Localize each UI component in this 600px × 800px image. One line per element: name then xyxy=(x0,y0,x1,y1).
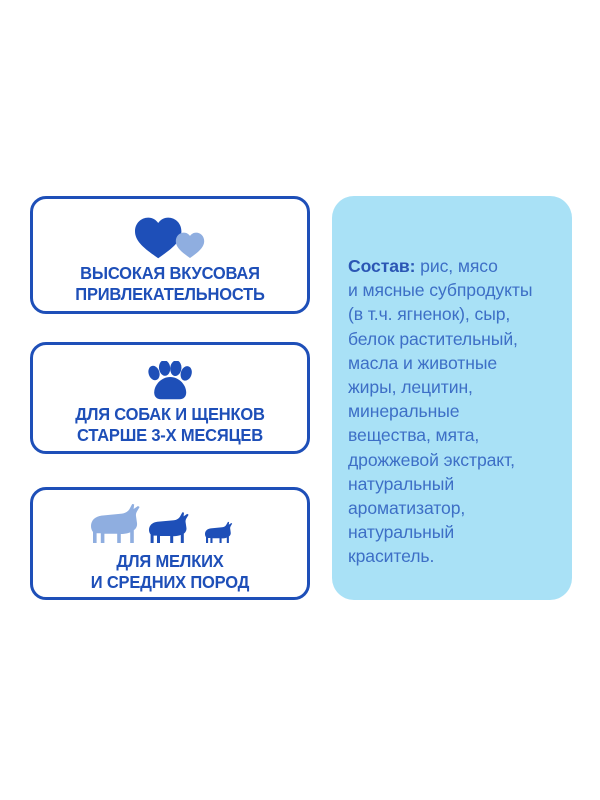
product-info-panel: ВЫСОКАЯ ВКУСОВАЯ ПРИВЛЕКАТЕЛЬНОСТЬ ДЛЯ С… xyxy=(0,0,600,800)
composition-body: рис, мясо и мясные субпродукты (в т.ч. я… xyxy=(348,256,532,566)
feature-label-small-and-medium-breeds: ДЛЯ МЕЛКИХ И СРЕДНИХ ПОРОД xyxy=(38,551,301,593)
feature-card-taste-appeal: ВЫСОКАЯ ВКУСОВАЯ ПРИВЛЕКАТЕЛЬНОСТЬ xyxy=(30,196,310,314)
feature-label-for-dogs-and-puppies: ДЛЯ СОБАК И ЩЕНКОВ СТАРШЕ 3-Х МЕСЯЦЕВ xyxy=(38,404,301,446)
feature-label-taste-appeal: ВЫСОКАЯ ВКУСОВАЯ ПРИВЛЕКАТЕЛЬНОСТЬ xyxy=(38,263,301,305)
composition-label: Состав: xyxy=(348,256,415,276)
feature-card-for-dogs-and-puppies: ДЛЯ СОБАК И ЩЕНКОВ СТАРШЕ 3-Х МЕСЯЦЕВ xyxy=(30,342,310,454)
feature-card-small-and-medium-breeds: ДЛЯ МЕЛКИХ И СРЕДНИХ ПОРОД xyxy=(30,487,310,600)
composition-panel: Состав: рис, мясо и мясные субпродукты (… xyxy=(332,196,572,600)
paw-print-icon xyxy=(33,345,307,401)
two-hearts-icon xyxy=(33,199,307,259)
three-dogs-icon xyxy=(33,490,307,548)
composition-text: Состав: рис, мясо и мясные субпродукты (… xyxy=(348,254,562,569)
